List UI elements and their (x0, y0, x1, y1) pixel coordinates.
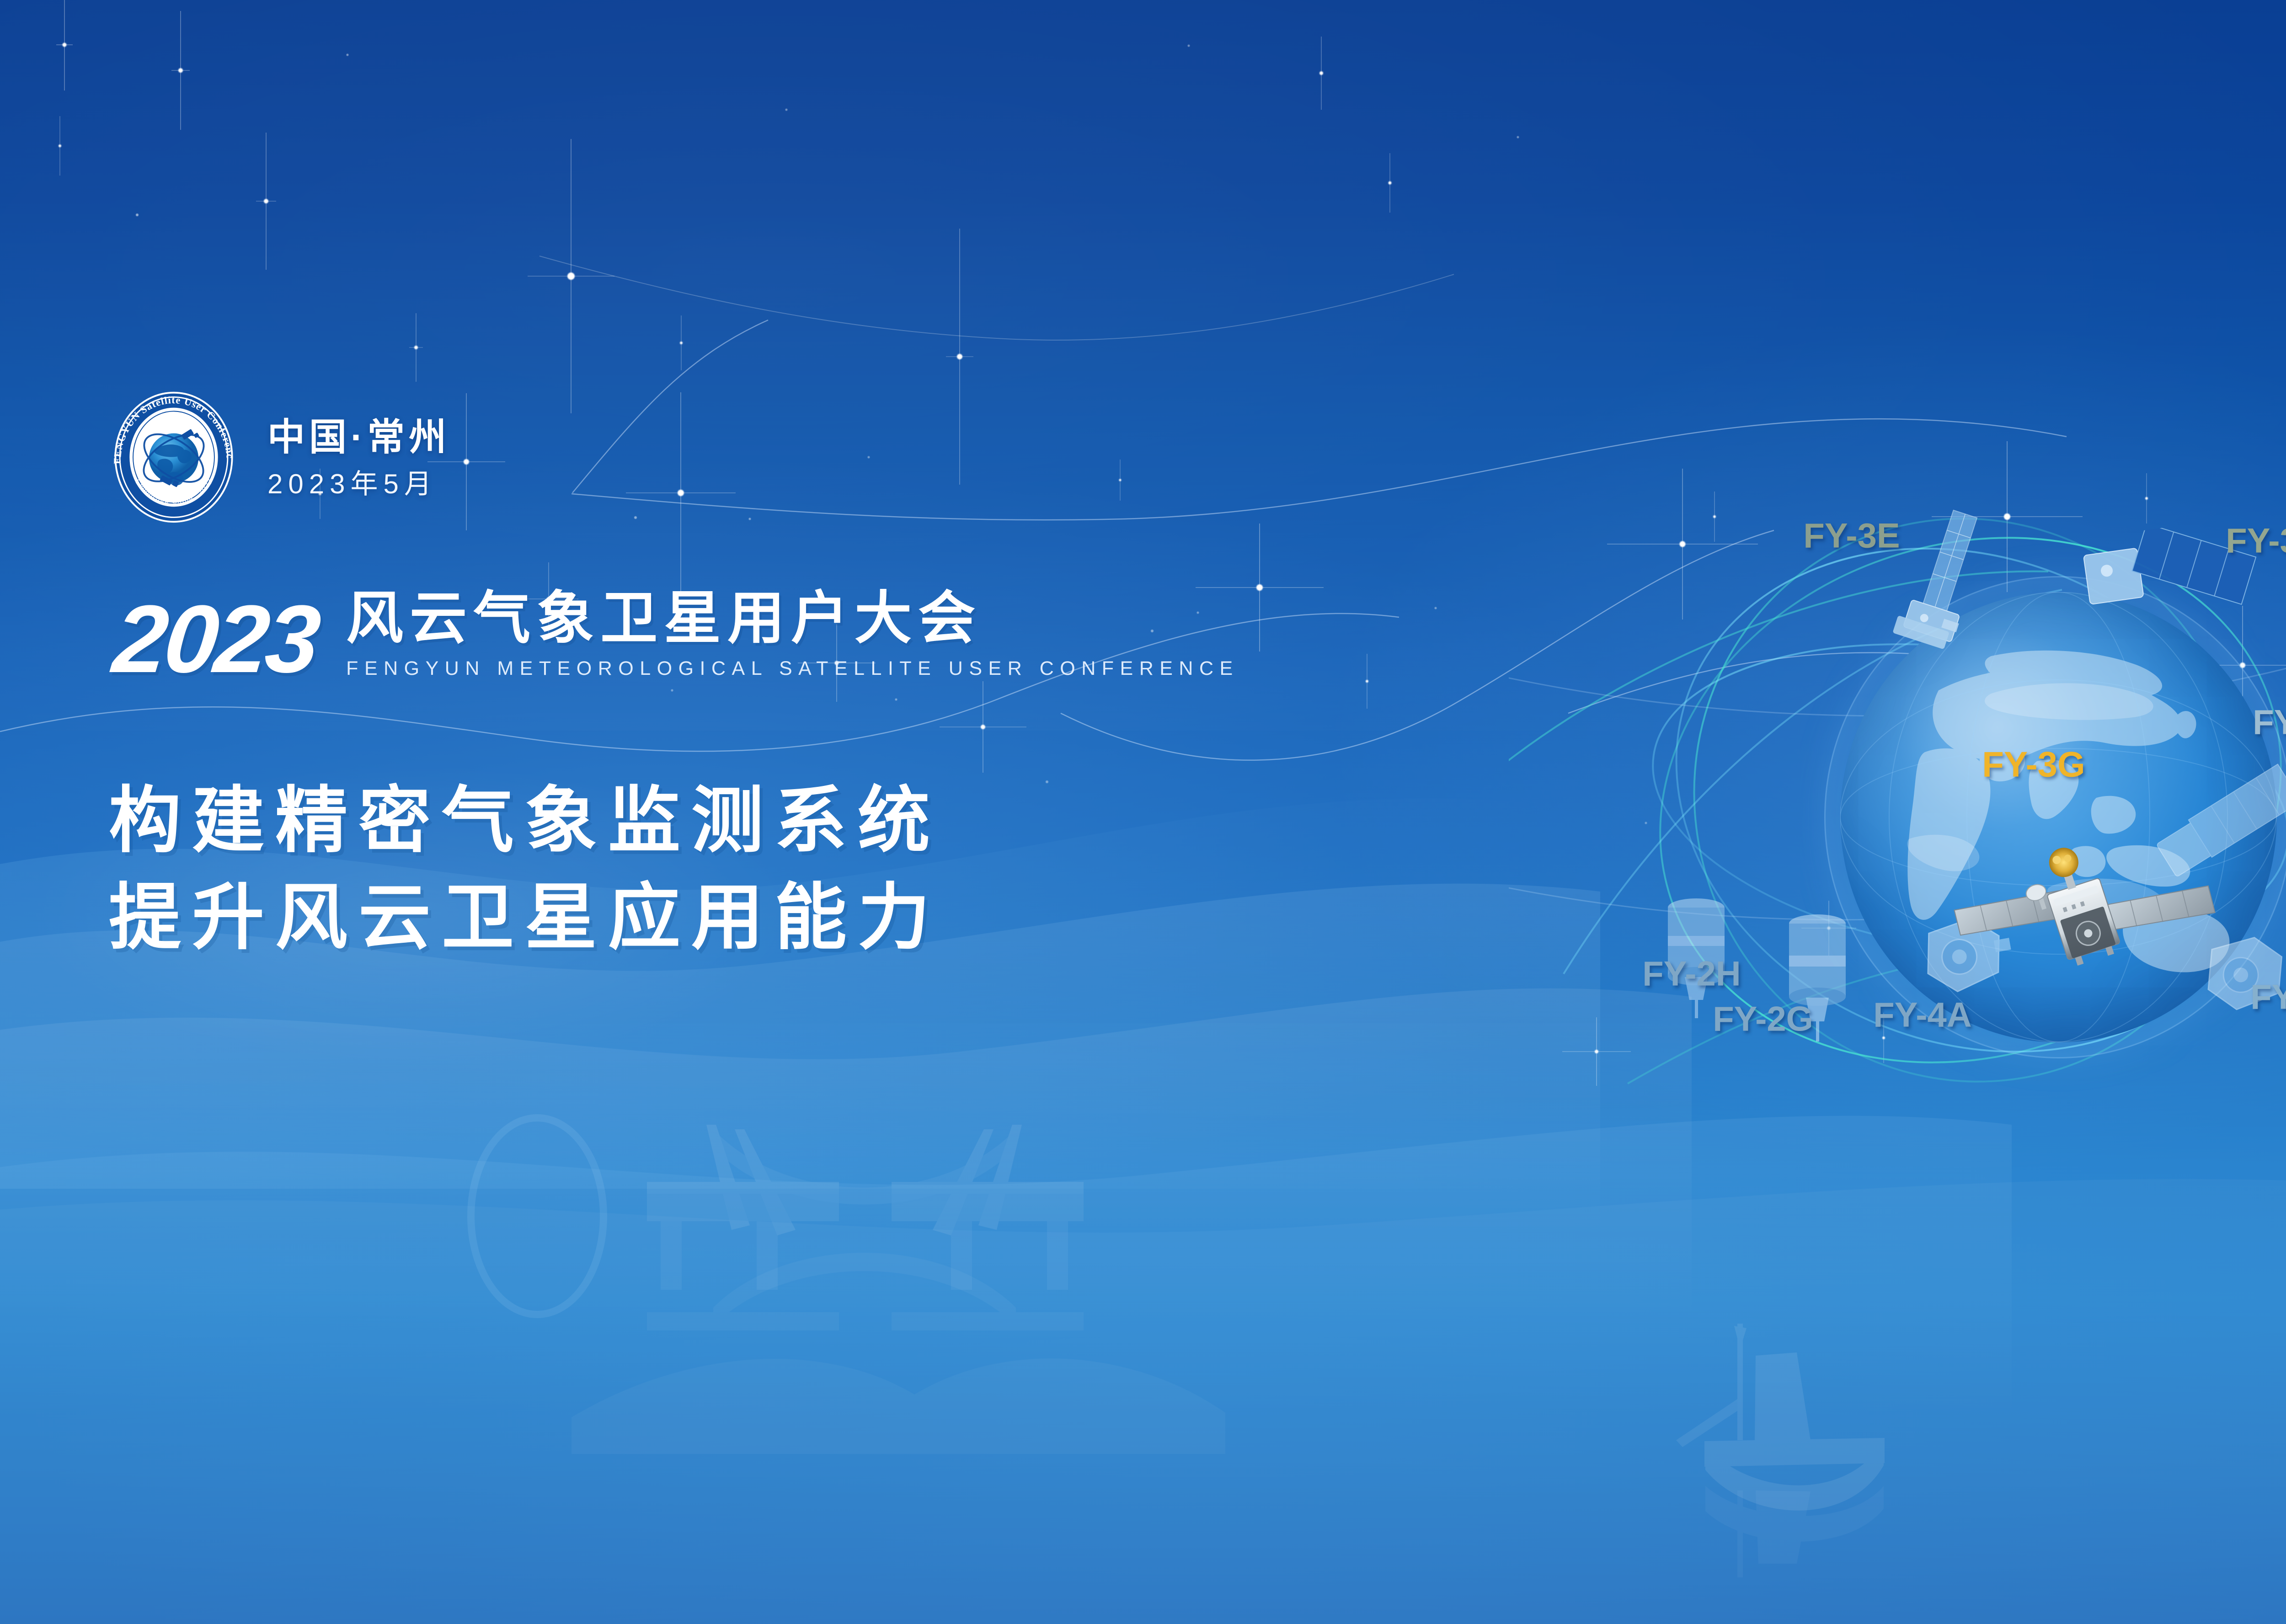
year-text: 2023 (110, 595, 321, 683)
satellite-fy-3g-graphic (1939, 777, 2222, 1015)
satellite-label-fy-2g: FY-2G (1713, 999, 1813, 1039)
conference-seal-logo: FENGYUN Satellite User Conference Changz… (107, 391, 240, 524)
slogan-block: 构建精密气象监测系统 提升风云卫星应用能力 (109, 773, 941, 966)
conference-title-en: FENGYUN METEOROLOGICAL SATELLITE USER CO… (346, 659, 1239, 678)
title-block: 2023 风云气象卫星用户大会 FENGYUN METEOROLOGICAL S… (114, 590, 1239, 683)
date-text: 2023年5月 (267, 470, 450, 498)
location-text: 中国·常州 (267, 418, 450, 457)
satellite-label-fy-3e: FY-3E (1803, 516, 1900, 556)
conference-poster: FY-3EFY-3CFY-3DFY-3GFY-2HFY-2GFY-4AFY-4B (0, 0, 2286, 1624)
satellite-label-fy-4b: FY-4B (2250, 978, 2286, 1017)
satellite-label-fy-4a: FY-4A (1873, 995, 1971, 1035)
satellite-label-fy-3d: FY-3D (2253, 703, 2286, 743)
slogan-line-1: 构建精密气象监测系统 (109, 773, 941, 870)
slogan-line-2: 提升风云卫星应用能力 (109, 870, 941, 967)
conference-title-zh: 风云气象卫星用户大会 (346, 590, 1239, 647)
conference-badge: FENGYUN Satellite User Conference Changz… (107, 391, 450, 524)
satellite-label-fy-2h: FY-2H (1642, 954, 1741, 994)
satellite-label-fy-3g: FY-3G (1982, 744, 2085, 785)
satellite-label-fy-3c: FY-3C (2226, 521, 2286, 561)
